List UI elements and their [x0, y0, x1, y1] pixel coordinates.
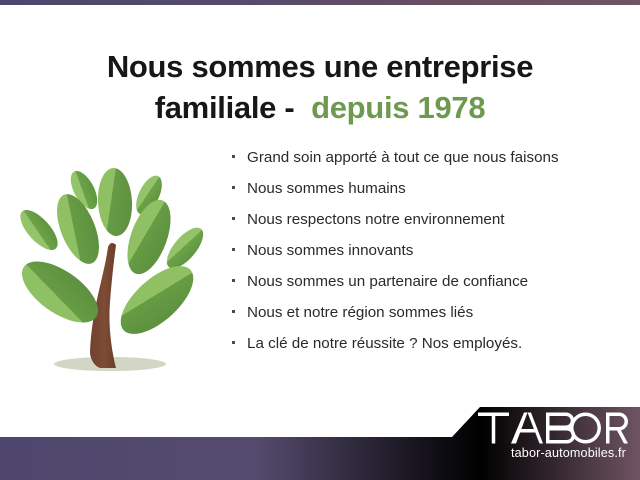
list-item-label: La clé de notre réussite ? Nos employés. [247, 335, 522, 352]
list-item-label: Nous sommes innovants [247, 242, 413, 259]
bullet-icon [232, 186, 235, 189]
bullet-icon [232, 279, 235, 282]
bullet-icon [232, 341, 235, 344]
page-title-line-2: familiale - depuis 1978 [24, 88, 616, 129]
list-item: Nous sommes un partenaire de confiance [231, 272, 631, 291]
list-item-label: Grand soin apporté à tout ce que nous fa… [247, 149, 559, 166]
list-item: Nous sommes innovants [231, 241, 631, 260]
list-item: Nous et notre région sommes liés [231, 303, 631, 322]
bullet-icon [232, 310, 235, 313]
tree-leaf [96, 167, 134, 237]
list-item: La clé de notre réussite ? Nos employés. [231, 334, 631, 353]
list-item-label: Nous sommes humains [247, 180, 406, 197]
top-accent-strip [0, 0, 640, 5]
brand-logo[interactable]: tabor-automobiles.fr [468, 411, 628, 460]
bullet-icon [232, 217, 235, 220]
page-title-dash: - [284, 90, 294, 125]
list-item-label: Nous sommes un partenaire de confiance [247, 273, 528, 290]
footer-bar: tabor-automobiles.fr [0, 402, 640, 480]
tree-icon [12, 152, 217, 384]
list-item: Nous respectons notre environnement [231, 210, 631, 229]
value-list: Grand soin apporté à tout ce que nous fa… [231, 148, 631, 365]
tree-leaf [14, 204, 64, 256]
slide-root: Nous sommes une entreprise familiale - d… [0, 0, 640, 480]
tree-leaf [110, 254, 205, 345]
bullet-icon [232, 248, 235, 251]
list-item: Nous sommes humains [231, 179, 631, 198]
page-title-accent: depuis 1978 [311, 90, 485, 125]
brand-website: tabor-automobiles.fr [468, 446, 628, 460]
list-item: Grand soin apporté à tout ce que nous fa… [231, 148, 631, 167]
page-title-line-2-main: familiale [155, 90, 276, 125]
tree-illustration [12, 152, 217, 384]
page-title-line-1: Nous sommes une entreprise [107, 49, 533, 84]
page-title: Nous sommes une entreprise familiale - d… [0, 47, 640, 129]
list-item-label: Nous et notre région sommes liés [247, 304, 473, 321]
tabor-wordmark-icon [478, 411, 628, 445]
list-item-label: Nous respectons notre environnement [247, 211, 505, 228]
bullet-icon [232, 155, 235, 158]
